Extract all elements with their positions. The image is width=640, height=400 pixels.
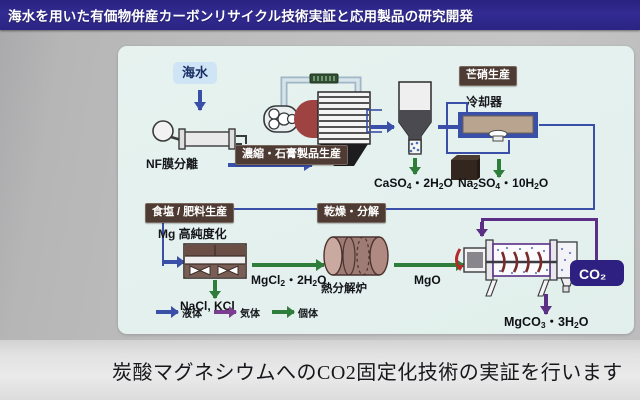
legend-label-gas: 気体 [240,305,260,320]
legend-arrow-solid [272,309,294,315]
mirabilite-solid-arrow [496,159,502,177]
cooler-pipe-left [446,102,448,154]
cooler-pipe-bottom-riser [508,140,510,154]
slide-caption: 炭酸マグネシウムへのCO2固定化技術の実証を行います [112,356,640,385]
section-label-salt-fertilizer: 食塩 / 肥料生産 [145,203,234,223]
cooler-vessel-icon [455,110,541,142]
salt-solid-arrow [212,280,218,298]
slide-title-bar: 海水を用いた有価物併産カーボンリサイクル技術実証と応用製品の研究開発 [0,0,640,30]
legend-arrow-gas [214,309,236,315]
chemical-gypsum: CaSO4・2H2O [374,177,453,189]
co2-pipe-top [481,218,597,221]
mgco3-product-arrow [543,294,549,314]
brine-to-purifier-arrow [164,259,184,265]
chemical-mgcl2: MgCl2・2H2O [251,274,326,286]
mgcl2-transfer-arrow [252,262,324,268]
pyrolysis-furnace-label: 熱分解炉 [321,284,367,296]
cooler-pipe-top [446,102,468,104]
page-title: 海水を用いた有価物併産カーボンリサイクル技術実証と応用製品の研究開発 [8,5,473,25]
legend-arrow-liquid [156,309,178,315]
legend-label-liquid: 液体 [182,305,202,320]
rotation-arrow-icon [452,246,466,274]
seawater-label: 海水 [173,62,217,84]
gypsum-separator-icon [393,80,437,158]
section-label-gypsum: 濃縮・石膏製品生産 [235,145,348,165]
cooler-pipe-top-drop [466,102,468,112]
mg-purifier-icon [182,242,248,280]
chemical-mirabilite: Na2SO4・10H2O [458,177,548,189]
legend-label-solid: 個体 [298,305,318,320]
process-diagram-panel: 海水 NF膜分離 [118,46,634,334]
slide-root: 海水を用いた有価物併産カーボンリサイクル技術実証と応用製品の研究開発 炭酸マグネ… [0,0,640,400]
chemical-mgco3: MgCO3・3H2O [504,316,589,329]
concentrate-to-separator-arrow [370,124,394,130]
co2-pipe-riser [595,218,598,264]
co2-inlet-arrow [479,222,485,236]
section-label-drying: 乾燥・分解 [317,203,386,223]
cooler-label: 冷却器 [466,96,502,108]
co2-label: CO₂ [579,267,606,281]
rotary-kiln-icon [323,231,389,281]
cooler-pipe-out [539,124,595,126]
chemical-mgo: MgO [414,274,441,286]
section-label-mirabilite: 芒硝生産 [459,66,517,86]
mg-purification-label: Mg 高純度化 [158,228,227,240]
nf-separation-label: NF膜分離 [146,158,198,170]
carbonation-reactor-icon [462,232,586,298]
gypsum-solid-arrow [412,158,418,174]
seawater-inlet-arrow [197,90,203,110]
recycle-pipe-right [593,124,595,210]
